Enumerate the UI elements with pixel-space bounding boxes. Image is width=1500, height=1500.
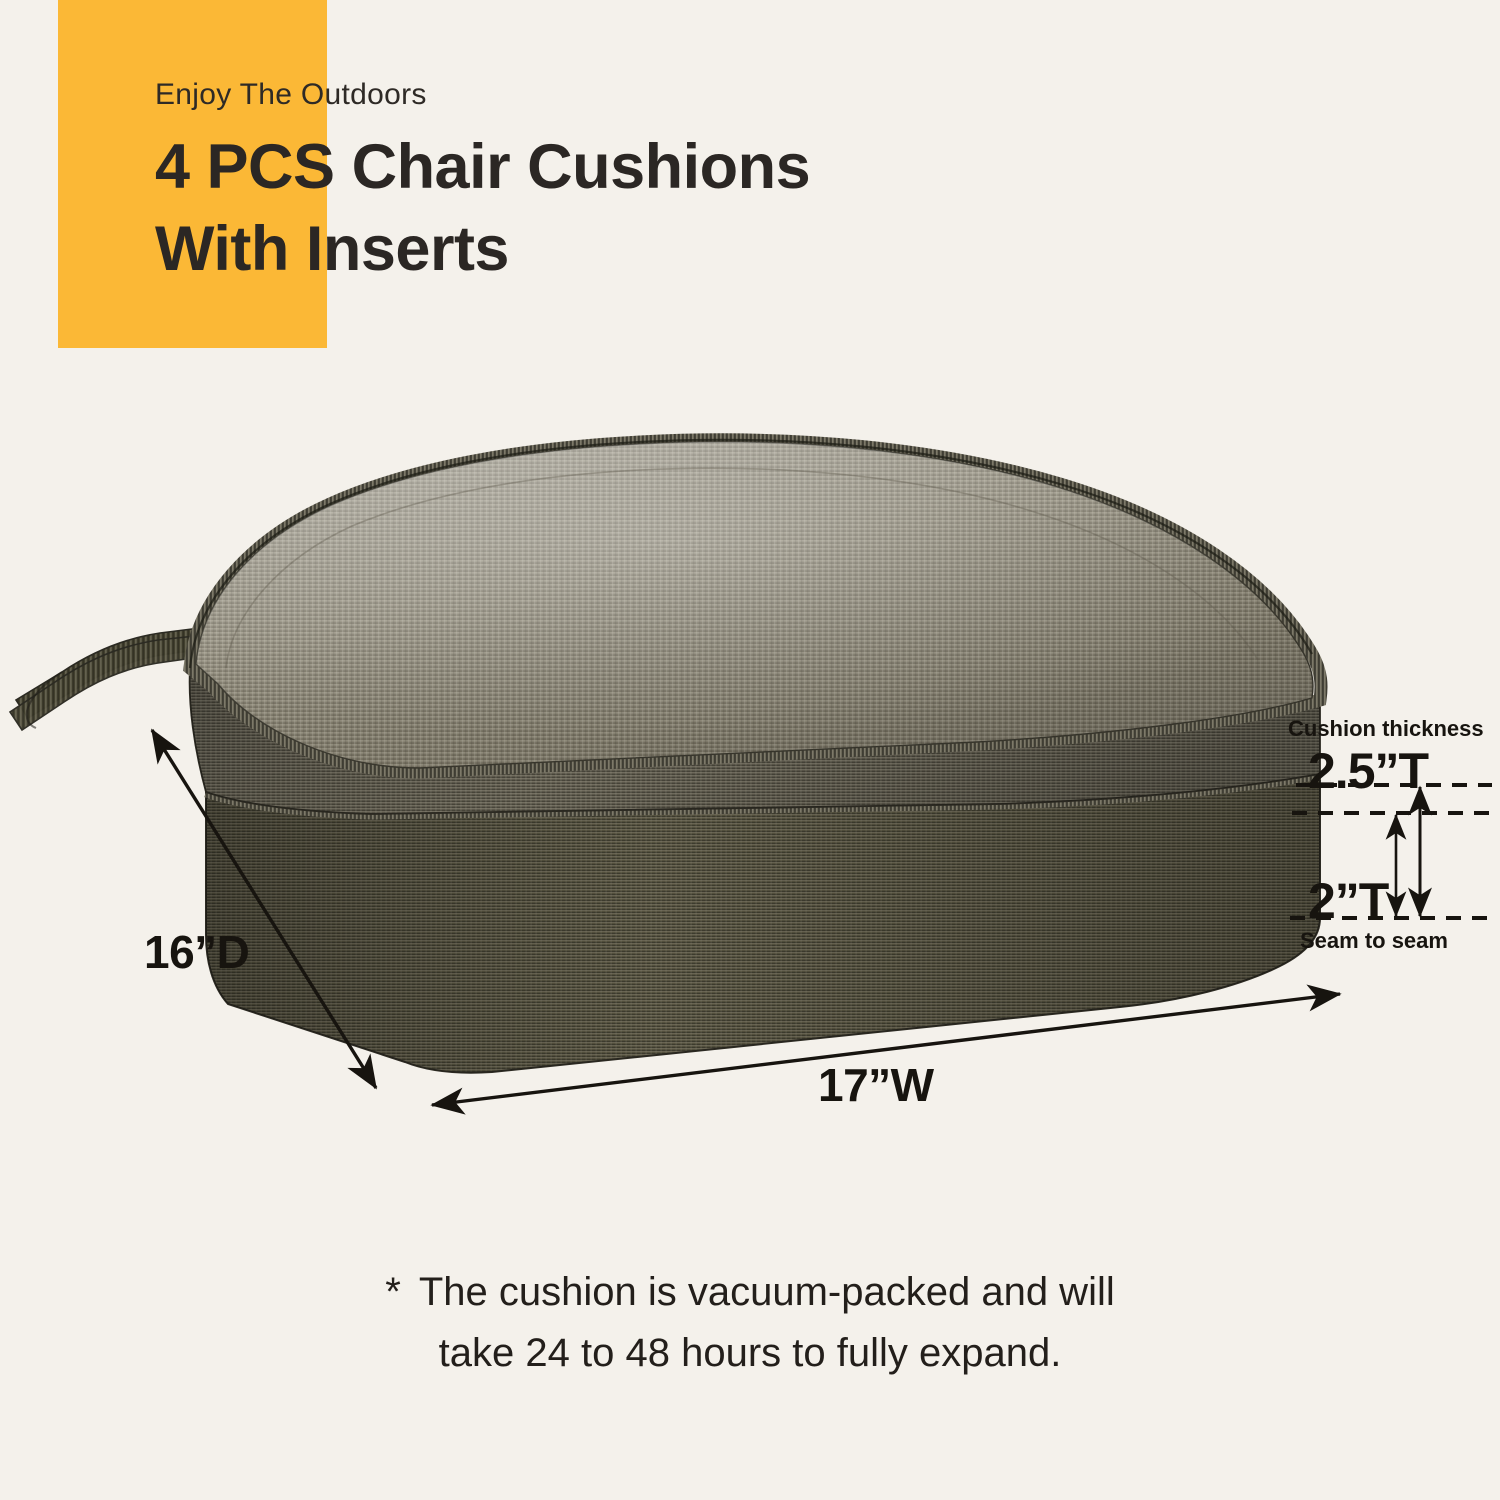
- width-dimension-label: 17”W: [818, 1058, 934, 1112]
- asterisk-icon: *: [385, 1270, 419, 1314]
- tie-strap: [10, 628, 208, 730]
- header-text-group: Enjoy The Outdoors 4 PCS Chair Cushions …: [155, 78, 810, 291]
- headline-line-2: With Inserts: [155, 209, 810, 291]
- depth-dimension-label: 16”D: [144, 925, 249, 979]
- eyebrow-text: Enjoy The Outdoors: [155, 78, 810, 111]
- cushion-illustration: [0, 400, 1500, 1160]
- total-thickness-label: 2.5”T: [1308, 742, 1428, 800]
- seam-thickness-label: 2”T: [1308, 872, 1388, 930]
- cushion-thickness-caption: Cushion thickness: [1288, 716, 1484, 742]
- product-infographic: Enjoy The Outdoors 4 PCS Chair Cushions …: [0, 0, 1500, 1500]
- headline-line-1: 4 PCS Chair Cushions: [155, 127, 810, 209]
- product-image-stage: [0, 400, 1500, 1160]
- footnote-line-2: take 24 to 48 hours to fully expand.: [0, 1323, 1500, 1384]
- footnote-line-1: The cushion is vacuum-packed and will: [419, 1270, 1115, 1314]
- footnote: *The cushion is vacuum-packed and will t…: [0, 1262, 1500, 1384]
- seam-to-seam-caption: Seam to seam: [1300, 928, 1448, 954]
- page-title: 4 PCS Chair Cushions With Inserts: [155, 127, 810, 291]
